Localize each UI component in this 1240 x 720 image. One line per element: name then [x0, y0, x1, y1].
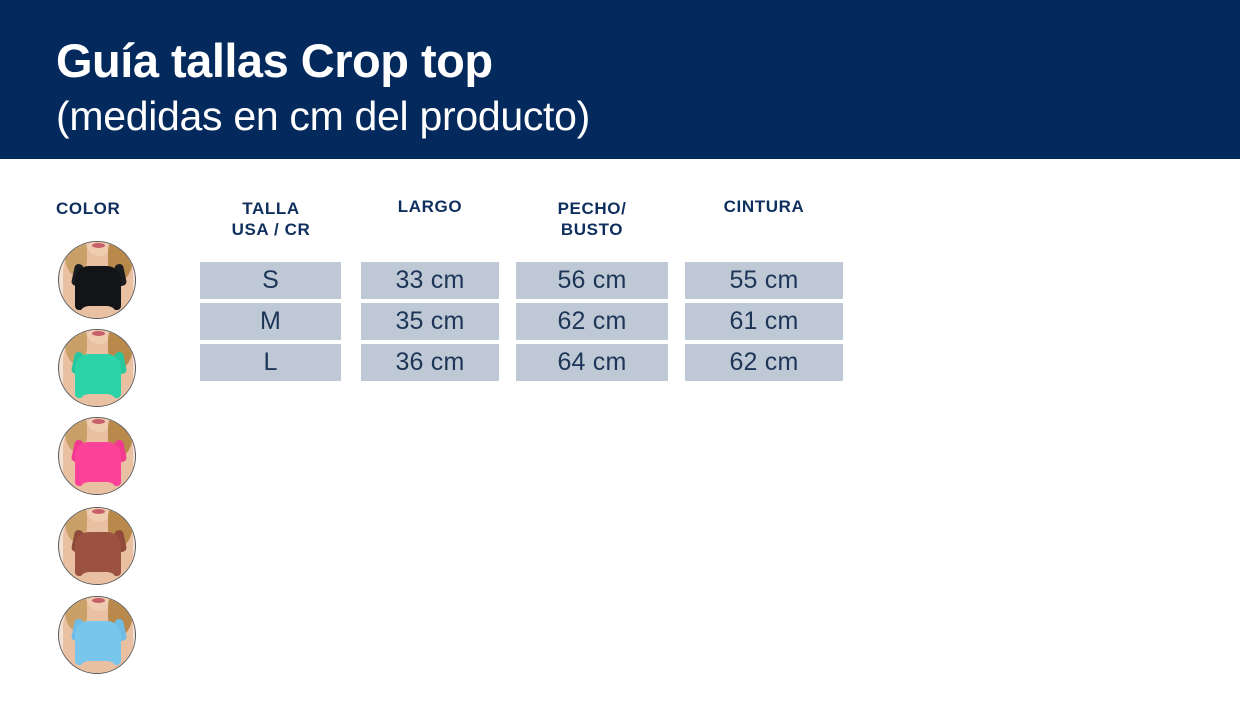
- column-header-cintura: CINTURA: [685, 196, 843, 217]
- model-waist: [79, 306, 117, 318]
- crop-top-photo: [59, 330, 136, 407]
- table-cell-pecho: 56 cm: [516, 262, 668, 299]
- color-swatch-terracota[interactable]: [58, 507, 136, 585]
- garment-body: [75, 354, 121, 398]
- model-waist: [79, 482, 117, 494]
- page-subtitle: (medidas en cm del producto): [56, 92, 590, 140]
- model-lips: [92, 598, 105, 603]
- column-header-pecho: PECHO/: [516, 198, 668, 219]
- model-lips: [92, 243, 105, 248]
- crop-top-photo: [59, 508, 136, 585]
- size-guide-page: Guía tallas Crop top (medidas en cm del …: [0, 0, 1240, 720]
- model-waist: [79, 572, 117, 584]
- table-cell-cintura: 61 cm: [685, 303, 843, 340]
- model-lips: [92, 509, 105, 514]
- garment-body: [75, 266, 121, 310]
- garment-body: [75, 621, 121, 665]
- page-title: Guía tallas Crop top: [56, 33, 493, 89]
- crop-top-photo: [59, 242, 136, 319]
- color-swatch-celeste[interactable]: [58, 596, 136, 674]
- table-cell-talla: M: [200, 303, 341, 340]
- column-header-talla-sub: USA / CR: [200, 219, 342, 240]
- color-swatch-turquesa[interactable]: [58, 329, 136, 407]
- crop-top-photo: [59, 597, 136, 674]
- column-header-color: COLOR: [56, 198, 166, 219]
- table-cell-pecho: 64 cm: [516, 344, 668, 381]
- table-cell-largo: 36 cm: [361, 344, 499, 381]
- table-cell-pecho: 62 cm: [516, 303, 668, 340]
- column-header-pecho-sub: BUSTO: [516, 219, 668, 240]
- garment-body: [75, 442, 121, 486]
- model-waist: [79, 661, 117, 673]
- table-cell-cintura: 62 cm: [685, 344, 843, 381]
- model-lips: [92, 419, 105, 424]
- column-header-talla: TALLA: [200, 198, 342, 219]
- garment-body: [75, 532, 121, 576]
- table-cell-talla: S: [200, 262, 341, 299]
- table-cell-largo: 35 cm: [361, 303, 499, 340]
- model-lips: [92, 331, 105, 336]
- crop-top-photo: [59, 418, 136, 495]
- model-waist: [79, 394, 117, 406]
- color-swatch-rosado-neon[interactable]: [58, 417, 136, 495]
- table-cell-cintura: 55 cm: [685, 262, 843, 299]
- color-swatch-negro[interactable]: [58, 241, 136, 319]
- table-cell-largo: 33 cm: [361, 262, 499, 299]
- column-header-largo: LARGO: [361, 196, 499, 217]
- header-banner: Guía tallas Crop top (medidas en cm del …: [0, 0, 1240, 159]
- table-cell-talla: L: [200, 344, 341, 381]
